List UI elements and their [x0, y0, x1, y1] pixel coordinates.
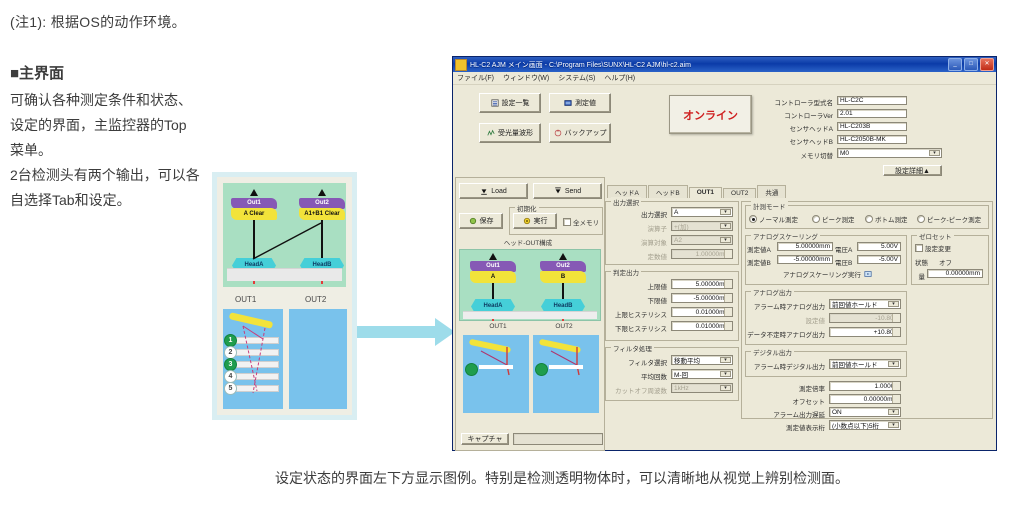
all-memory-checkbox[interactable]: 全メモリ [563, 217, 599, 227]
zero-set-state-label: 状態 [915, 257, 937, 267]
alarm-output-delay-value: ON [832, 409, 842, 416]
article-paragraph-1: 可确认各种测定条件和状态、设定的界面，主监控器的Top菜单。 [10, 88, 200, 163]
radio-peak-measure[interactable]: ピーク測定 [812, 214, 855, 224]
tab-out1[interactable]: OUT1 [689, 187, 722, 198]
analog-scaling-caption: アナログスケーリング [751, 231, 820, 241]
backup-label: バックアップ [565, 128, 607, 138]
analog-setting-value-label: 設定値 [747, 315, 825, 325]
head-out-config-label: ヘッド-OUT構成 [453, 237, 603, 247]
online-status-indicator: オンライン [669, 95, 752, 134]
measure-magnification-field[interactable]: 1.00000 [829, 381, 901, 391]
alarm-analog-output-combo[interactable]: 前回値ホールド ▾ [829, 299, 901, 309]
zero-set-amount-field: 0.00000mm [927, 269, 983, 278]
save-button[interactable]: 保存 [459, 213, 503, 229]
capture-button[interactable]: キャプチャ [461, 433, 509, 445]
preview-out2-graphic [289, 309, 347, 409]
display-digits-label: 測定値表示桁 [759, 422, 825, 432]
gear-icon [523, 217, 531, 225]
head-out-diagram: Out1 A Clear HeadA Out2 A1+B1 Clear Head… [223, 183, 346, 287]
settings-list-button[interactable]: 設定一覧 [479, 93, 541, 113]
app-link-a [492, 283, 494, 301]
scaling-value-a-label: 測定値A [747, 244, 775, 254]
average-count-label: 平均回数 [605, 371, 667, 381]
list-icon [491, 99, 499, 107]
spinner-icon[interactable] [724, 322, 732, 330]
measure-magnification-label: 測定倍率 [775, 383, 825, 393]
spinner-icon[interactable] [892, 382, 900, 390]
scaling-value-b-field[interactable]: -5.00000mm [777, 255, 833, 264]
filter-select-combo[interactable]: 移動平均 ▾ [671, 355, 733, 365]
menu-item-help[interactable]: ヘルプ(H) [604, 73, 635, 83]
menu-bar[interactable]: ファイル(F) ウィンドウ(W) システム(S) ヘルプ(H) [453, 72, 996, 85]
arrow-up-icon [559, 253, 567, 260]
cutoff-frequency-value: 1kHz [674, 385, 689, 392]
controller-version-value: 2.01 [837, 109, 907, 118]
offset-label: オフセット [775, 396, 825, 406]
preview-out1-graphic: 1 2 3 4 5 [223, 309, 283, 409]
analog-output-caption: アナログ出力 [751, 287, 794, 297]
offset-field[interactable]: 0.00000mm [829, 394, 901, 404]
chevron-down-icon[interactable]: ▾ [888, 422, 899, 428]
voltage-b-value: -5.00V [879, 256, 898, 263]
output-select-combo[interactable]: A ▾ [671, 207, 733, 217]
preview-out1-label: OUT1 [467, 323, 529, 330]
display-digits-value: (小数点以下)5桁 [832, 420, 879, 430]
chevron-down-icon[interactable]: ▾ [888, 409, 899, 415]
upper-hysteresis-field[interactable]: 0.01000mm [671, 307, 733, 317]
app-link-b [562, 283, 564, 301]
radio-dot[interactable] [917, 215, 925, 223]
output-select-caption: 出力選択 [611, 197, 641, 207]
app-out2-sublabel: B [540, 271, 586, 283]
window-titlebar[interactable]: HL-C2 AJM メイン画面 - C:\Program Files\SUNX\… [453, 57, 996, 72]
run-label: 実行 [534, 216, 548, 226]
window-controls[interactable]: _ □ ✕ [948, 58, 994, 71]
close-button[interactable]: ✕ [980, 58, 994, 71]
operand-value: A2 [674, 237, 682, 244]
filter-select-label: フィルタ選択 [605, 357, 667, 367]
cutoff-frequency-label: カットオフ周波数 [601, 385, 667, 395]
article-body: 可确认各种测定条件和状态、设定的界面，主监控器的Top菜单。 2台检测头有两个输… [10, 88, 200, 213]
voltage-b-label: 電圧B [835, 257, 855, 267]
alarm-digital-output-combo[interactable]: 前回値ホールド ▾ [829, 359, 901, 369]
send-button[interactable]: Send [533, 183, 602, 199]
controller-model-label: コントローラ型式名 [759, 97, 833, 107]
operator-combo[interactable]: +(加) ▾ [671, 221, 733, 231]
spinner-icon[interactable] [724, 294, 732, 302]
window-title: HL-C2 AJM メイン画面 - C:\Program Files\SUNX\… [470, 60, 948, 70]
operator-label: 演算子 [609, 223, 667, 233]
lower-limit-label: 下限値 [605, 295, 667, 305]
preview-marker [535, 363, 548, 376]
section-heading: ■主界面 [10, 62, 64, 83]
chevron-down-icon[interactable]: ▾ [720, 357, 731, 363]
measured-value-label: 測定値 [575, 98, 596, 108]
operand-label: 演算対象 [609, 237, 667, 247]
chevron-down-icon[interactable]: ▾ [720, 371, 731, 377]
upper-hysteresis-label: 上限ヒステリシス [601, 309, 667, 319]
scaling-value-a-field[interactable]: 5.00000mm [777, 242, 833, 251]
maximize-button[interactable]: □ [964, 58, 978, 71]
tab-common[interactable]: 共通 [757, 185, 786, 198]
analog-scaling-execute-label: アナログスケーリング実行 [783, 269, 861, 279]
figure-caption: 设定状态的界面左下方显示图例。特别是检测透明物体时，可以清晰地从视觉上辨别检测面… [212, 468, 912, 488]
output-select-value: A [674, 209, 678, 216]
tab-out2[interactable]: OUT2 [723, 188, 756, 198]
measure-mode-caption: 計測モード [751, 201, 788, 211]
radio-bottom-measure[interactable]: ボトム測定 [865, 214, 908, 224]
article-paragraph-2: 2台检测头有两个输出，可以各自选择Tab和设定。 [10, 163, 200, 213]
minimize-button[interactable]: _ [948, 58, 962, 71]
app-head-out-diagram[interactable]: Out1 A HeadA Out2 B HeadB [459, 249, 601, 321]
sensor-head-b-label: センサヘッドB [759, 136, 833, 146]
callout-arrow [357, 318, 455, 354]
operand-combo[interactable]: A2 ▾ [671, 235, 733, 245]
download-arrow-icon [480, 187, 488, 195]
cutoff-frequency-combo[interactable]: 1kHz ▾ [671, 383, 733, 393]
illustration-card: Out1 A Clear HeadA Out2 A1+B1 Clear Head… [212, 172, 357, 420]
radio-dot[interactable] [865, 215, 873, 223]
memory-switch-value: M0 [840, 150, 849, 157]
scaling-value-b-label: 測定値B [747, 257, 775, 267]
app-out1-block[interactable]: Out1 A [470, 261, 516, 283]
radio-peak-to-peak-measure[interactable]: ピーク-ピーク測定 [917, 214, 981, 224]
data-invalid-analog-output-label: データ不定時アナログ出力 [741, 329, 825, 339]
backup-icon [554, 129, 562, 137]
init-group-caption: 初期化 [515, 203, 539, 213]
spinner-icon[interactable] [892, 314, 900, 322]
lower-limit-field[interactable]: -5.00000mm [671, 293, 733, 303]
light-waveform-button[interactable]: 受光量波形 [479, 123, 541, 143]
app-icon [455, 59, 467, 71]
radio-normal-measure[interactable]: ノーマル測定 [749, 214, 798, 224]
sensor-head-a-label: センサヘッドA [759, 123, 833, 133]
radio-normal-label: ノーマル測定 [759, 214, 798, 224]
preview-out1-pane[interactable] [463, 335, 529, 413]
preview-out2-pane[interactable] [533, 335, 599, 413]
average-count-combo[interactable]: M-回 ▾ [671, 369, 733, 379]
app-workpiece-plate [463, 311, 597, 319]
controller-model-value: HL-C2C [837, 96, 907, 105]
spinner-icon[interactable] [724, 308, 732, 316]
radio-peak-label: ピーク測定 [822, 214, 855, 224]
run-button[interactable]: 実行 [513, 213, 557, 229]
zero-set-change-label: 設定変更 [925, 243, 951, 253]
spinner-icon[interactable] [724, 250, 732, 258]
load-label: Load [491, 188, 507, 195]
controller-version-label: コントローラVer [759, 110, 833, 120]
app-out1-sublabel: A [470, 271, 516, 283]
alarm-analog-output-value: 前回値ホールド [832, 299, 878, 309]
waveform-icon [487, 129, 495, 137]
callout-arrow-shape [357, 318, 455, 354]
settings-detail-label: 設定詳細▲ [895, 166, 930, 176]
alarm-analog-output-label: アラーム時アナログ出力 [747, 301, 825, 311]
sensor-head-a-value: HL-C203B [837, 122, 907, 131]
judge-output-caption: 判定出力 [611, 267, 641, 277]
alarm-digital-output-value: 前回値ホールド [832, 359, 878, 369]
spinner-icon[interactable] [724, 280, 732, 288]
spinner-icon[interactable] [892, 395, 900, 403]
alarm-digital-output-label: アラーム時デジタル出力 [747, 361, 825, 371]
voltage-a-field[interactable]: 5.00V [857, 242, 901, 251]
chevron-down-icon[interactable]: ▾ [720, 209, 731, 215]
chevron-down-icon[interactable]: ▾ [929, 150, 940, 156]
zero-set-amount-label: 量 [913, 271, 925, 281]
upper-limit-label: 上限値 [605, 281, 667, 291]
illustration-out2-caption: OUT2 [305, 295, 326, 304]
lower-hysteresis-label: 下限ヒステリシス [601, 323, 667, 333]
filter-group-caption: フィルタ処理 [611, 343, 654, 353]
sensor-head-b-value: HL-C2050B-MK [837, 135, 907, 144]
backup-button[interactable]: バックアップ [549, 123, 611, 143]
chevron-down-icon[interactable]: ▾ [720, 237, 731, 243]
application-window: HL-C2 AJM メイン画面 - C:\Program Files\SUNX\… [452, 56, 997, 451]
marker-5: 5 [224, 382, 237, 395]
chevron-down-icon[interactable]: ▾ [888, 301, 899, 307]
execute-icon[interactable] [864, 270, 872, 278]
constant-label: 定数値 [609, 251, 667, 261]
menu-item-file[interactable]: ファイル(F) [457, 73, 494, 83]
gauge-icon [564, 99, 572, 107]
filter-select-value: 移動平均 [674, 355, 700, 365]
spinner-icon[interactable] [892, 328, 900, 336]
voltage-b-field[interactable]: -5.00V [857, 255, 901, 264]
checkbox-box[interactable] [915, 244, 923, 252]
all-memory-label: 全メモリ [573, 217, 599, 227]
scaling-value-b-value: -5.00000mm [794, 256, 831, 263]
chevron-down-icon[interactable]: ▾ [720, 385, 731, 391]
memory-switch-select[interactable]: M0 ▾ [837, 148, 942, 158]
tab-head-b[interactable]: ヘッドB [648, 185, 688, 198]
zero-set-amount-value: 0.00000mm [946, 270, 980, 277]
radio-dot[interactable] [812, 215, 820, 223]
save-icon [469, 217, 477, 225]
capture-status-field [513, 433, 603, 445]
app-out2-block[interactable]: Out2 B [540, 261, 586, 283]
menu-item-system[interactable]: システム(S) [558, 73, 595, 83]
zero-set-caption: ゼロセット [917, 231, 954, 241]
digital-output-caption: デジタル出力 [751, 347, 794, 357]
analog-scaling-execute[interactable]: アナログスケーリング実行 [783, 269, 872, 279]
zero-set-state-value: オフ [939, 257, 969, 267]
memory-switch-label: メモリ切替 [759, 150, 833, 160]
output-select-label: 出力選択 [609, 209, 667, 219]
scaling-value-a-value: 5.00000mm [796, 243, 830, 250]
window-body: 設定一覧 測定値 受光量波形 バックアップ オンライン コント [453, 85, 996, 452]
settings-list-label: 設定一覧 [502, 98, 530, 108]
footnote-text: (注1): 根据OS的动作环境。 [10, 12, 186, 32]
chevron-down-icon[interactable]: ▾ [720, 223, 731, 229]
operator-value: +(加) [674, 221, 689, 231]
light-waveform-label: 受光量波形 [498, 128, 533, 138]
voltage-a-value: 5.00V [881, 243, 898, 250]
illustration-frame: Out1 A Clear HeadA Out2 A1+B1 Clear Head… [217, 177, 352, 415]
voltage-a-label: 電圧A [835, 244, 855, 254]
preview-out2-label: OUT2 [533, 323, 595, 330]
data-invalid-analog-output-field[interactable]: +10.80V [829, 327, 901, 337]
chevron-down-icon[interactable]: ▾ [888, 361, 899, 367]
constant-field[interactable]: 1.00000mm [671, 249, 733, 259]
radio-dot[interactable] [749, 215, 757, 223]
illustration-out1-caption: OUT1 [235, 295, 256, 304]
upload-arrow-icon [554, 187, 562, 195]
settings-detail-button[interactable]: 設定詳細▲ [883, 165, 942, 176]
display-digits-combo[interactable]: (小数点以下)5桁 ▾ [829, 420, 901, 430]
measured-value-button[interactable]: 測定値 [549, 93, 611, 113]
upper-limit-field[interactable]: 5.00000mm [671, 279, 733, 289]
average-count-value: M-回 [674, 369, 688, 379]
radio-bottom-label: ボトム測定 [875, 214, 908, 224]
arrow-up-icon [489, 253, 497, 260]
menu-item-window[interactable]: ウィンドウ(W) [503, 73, 549, 83]
radio-peak-to-peak-label: ピーク-ピーク測定 [927, 214, 981, 224]
alarm-output-delay-combo[interactable]: ON ▾ [829, 407, 901, 417]
load-button[interactable]: Load [459, 183, 528, 199]
capture-label: キャプチャ [468, 434, 503, 444]
alarm-output-delay-label: アラーム出力遅延 [759, 409, 825, 419]
analog-setting-value-field[interactable]: -10.80V [829, 313, 901, 323]
checkbox-box[interactable] [563, 218, 571, 226]
send-label: Send [565, 188, 581, 195]
zero-set-change-checkbox[interactable]: 設定変更 [915, 243, 951, 253]
lower-hysteresis-field[interactable]: 0.01000mm [671, 321, 733, 331]
save-label: 保存 [480, 216, 494, 226]
preview-marker [465, 363, 478, 376]
workpiece-plate [227, 268, 342, 281]
